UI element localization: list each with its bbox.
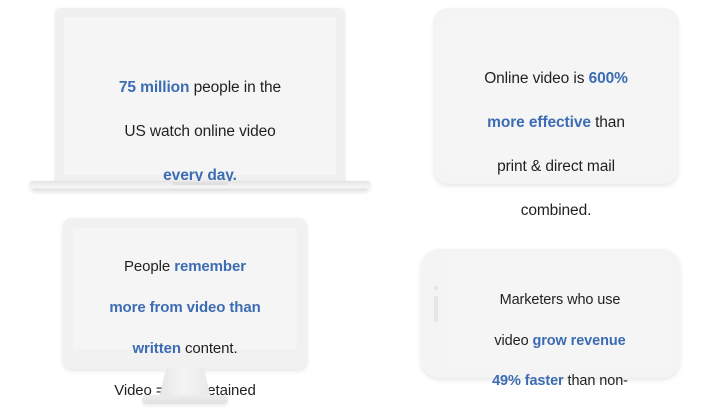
laptop-screen: 75 million people in the US watch online… — [64, 17, 336, 175]
tablet-top-right-stat-text: Online video is 600% more effective than… — [452, 46, 660, 244]
device-tablet-top-right: Online video is 600% more effective than… — [434, 8, 678, 184]
monitor-highlight-1: remember — [174, 258, 246, 275]
monitor-line-3-rest: content. — [181, 340, 238, 357]
laptop-hinge-notch — [172, 182, 228, 185]
monitor-stat-line-1: People remember — [73, 257, 297, 278]
tablet-br-stat-line-2: video grow revenue — [455, 331, 665, 351]
monitor-stand-base — [142, 395, 228, 404]
laptop-stat-line-1: 75 million people in the — [64, 77, 336, 99]
tablet-br-line-3-rest: than non- — [564, 373, 628, 389]
tablet-tr-stat-line-1: Online video is 600% — [452, 68, 660, 90]
device-tablet-bottom-right: Marketers who use video grow revenue 49%… — [421, 249, 680, 378]
tablet-tr-highlight-2: more effective — [487, 114, 591, 131]
device-laptop: 75 million people in the US watch online… — [30, 8, 370, 198]
monitor-line-1-rest: People — [124, 258, 174, 275]
laptop-stat-line-2: US watch online video — [64, 121, 336, 143]
tablet-tr-line-2-rest: than — [591, 114, 625, 131]
tablet-tr-stat-line-4: combined. — [452, 200, 660, 222]
tablet-br-stat-line-3: 49% faster than non- — [455, 371, 665, 391]
tablet-br-line-2-rest: video — [494, 333, 532, 349]
monitor-stat-line-2: more from video than — [73, 298, 297, 319]
tablet-tr-highlight-1: 600% — [589, 70, 628, 87]
tablet-bottom-right-stat-text: Marketers who use video grow revenue 49%… — [455, 270, 665, 415]
monitor-screen: People remember more from video than wri… — [73, 228, 297, 349]
tablet-br-stat-line-1: Marketers who use — [455, 290, 665, 310]
tablet-bottom-right-screen: Marketers who use video grow revenue 49%… — [451, 258, 669, 369]
monitor-stat-line-3: written content. — [73, 339, 297, 360]
tablet-tr-stat-line-2: more effective than — [452, 112, 660, 134]
monitor-highlight-3: written — [132, 340, 180, 357]
tablet-top-right-screen: Online video is 600% more effective than… — [444, 18, 668, 174]
monitor-stand-neck — [159, 368, 211, 398]
monitor-body: People remember more from video than wri… — [63, 218, 307, 369]
monitor-highlight-2: more from video than — [109, 299, 260, 316]
tablet-tr-line-1-rest: Online video is — [484, 70, 588, 87]
device-desktop-monitor: People remember more from video than wri… — [55, 218, 315, 408]
speaker-icon — [434, 296, 438, 322]
infographic-canvas: 75 million people in the US watch online… — [0, 0, 720, 415]
laptop-lid: 75 million people in the US watch online… — [55, 8, 345, 183]
tablet-br-highlight-2: 49% faster — [492, 373, 564, 389]
laptop-stat-line-1-rest: people in the — [189, 79, 281, 96]
laptop-stat-highlight-1: 75 million — [119, 79, 190, 96]
tablet-tr-stat-line-3: print & direct mail — [452, 156, 660, 178]
tablet-br-highlight-1: grow revenue — [533, 333, 626, 349]
camera-icon — [434, 286, 438, 290]
